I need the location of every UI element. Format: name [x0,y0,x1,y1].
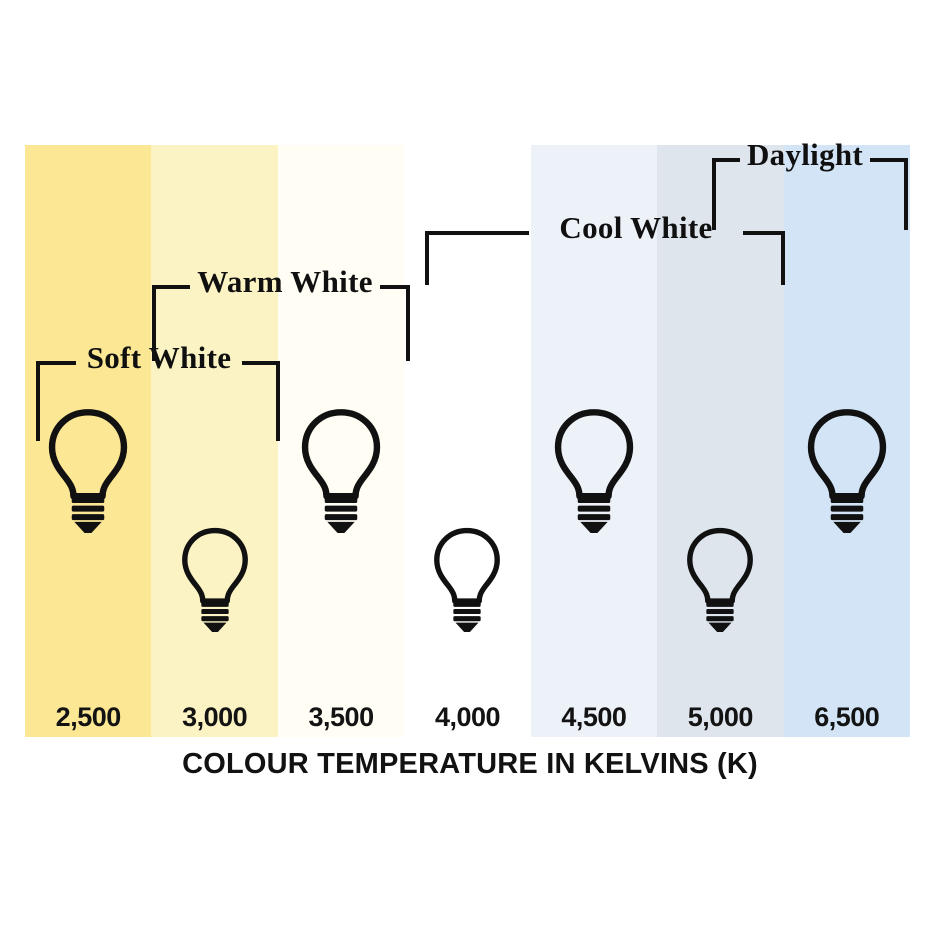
bracket-bar-left [712,158,740,162]
bulb-slot-3000 [151,145,277,737]
colour-temperature-chart: 2,500 3,000 3,500 4,000 4,500 5,000 6,50… [0,0,940,940]
lightbulb-icon [431,527,503,632]
kelvin-label: 2,500 [25,697,151,737]
bracket-bar-left [425,231,529,235]
bracket-cool-white: Cool White [425,231,785,285]
bracket-bar-right [870,158,908,162]
kelvin-label: 4,500 [531,697,657,737]
lightbulb-icon [804,408,890,533]
kelvin-label: 4,000 [404,697,530,737]
bracket-bar-left [152,285,190,289]
axis-title: COLOUR TEMPERATURE IN KELVINS (K) [0,748,940,781]
bracket-leg-right [781,231,785,285]
lightbulb-icon [179,527,251,632]
kelvin-label: 6,500 [784,697,910,737]
bracket-leg-left [152,285,156,361]
bulb-slot-6500 [784,145,910,737]
kelvin-tick-labels: 2,500 3,000 3,500 4,000 4,500 5,000 6,50… [25,697,910,737]
lightbulb-icon [551,408,637,533]
bulb-slot-2500 [25,145,151,737]
bracket-bar-left [36,361,76,365]
kelvin-label: 3,500 [278,697,404,737]
bracket-leg-left [425,231,429,285]
bracket-daylight: Daylight [712,158,908,230]
bracket-warm-white: Warm White [152,285,410,361]
kelvin-label: 5,000 [657,697,783,737]
bracket-leg-right [904,158,908,230]
bracket-leg-right [406,285,410,361]
bracket-leg-right [276,361,280,441]
bracket-label: Daylight [738,137,872,173]
bracket-soft-white: Soft White [36,361,280,441]
bracket-bar-right [743,231,785,235]
lightbulb-icon [298,408,384,533]
bracket-label: Warm White [188,264,382,300]
bracket-leg-left [712,158,716,230]
bracket-bar-right [242,361,280,365]
bulb-slot-3500 [278,145,404,737]
lightbulb-icon [684,527,756,632]
bracket-leg-left [36,361,40,441]
kelvin-label: 3,000 [151,697,277,737]
